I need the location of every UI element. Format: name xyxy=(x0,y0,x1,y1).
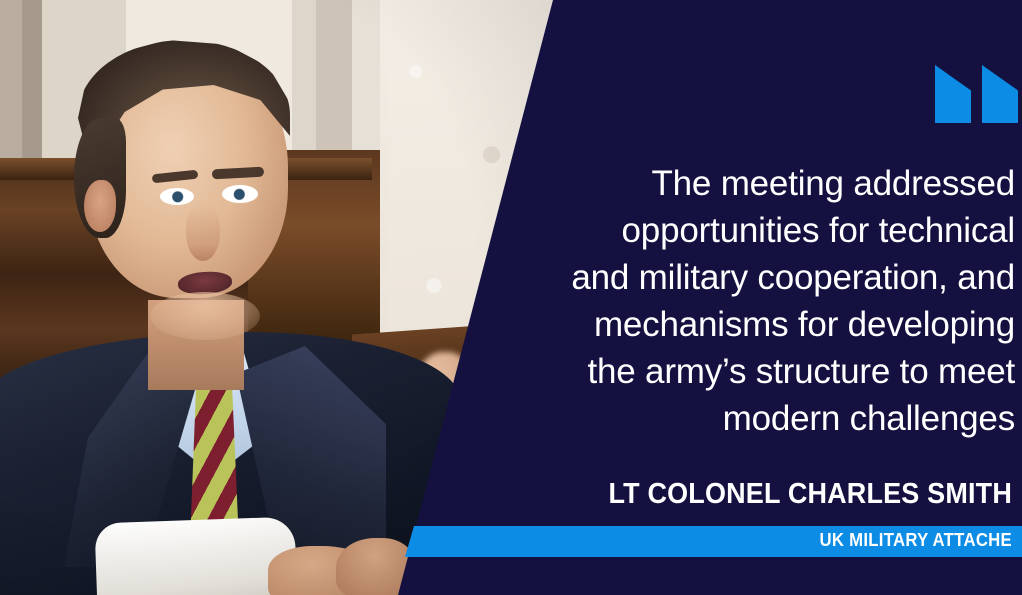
quote-card: The meeting addressed opportunities for … xyxy=(0,0,1022,595)
quotation-mark-bar-left xyxy=(935,65,971,123)
quotation-mark-bar-right xyxy=(982,65,1018,123)
quote-text: The meeting addressed opportunities for … xyxy=(515,160,1015,442)
attribution-role: UK MILITARY ATTACHE xyxy=(528,530,1012,551)
quotation-mark-icon xyxy=(935,65,1018,123)
attribution-name: LT COLONEL CHARLES SMITH xyxy=(510,478,1012,511)
